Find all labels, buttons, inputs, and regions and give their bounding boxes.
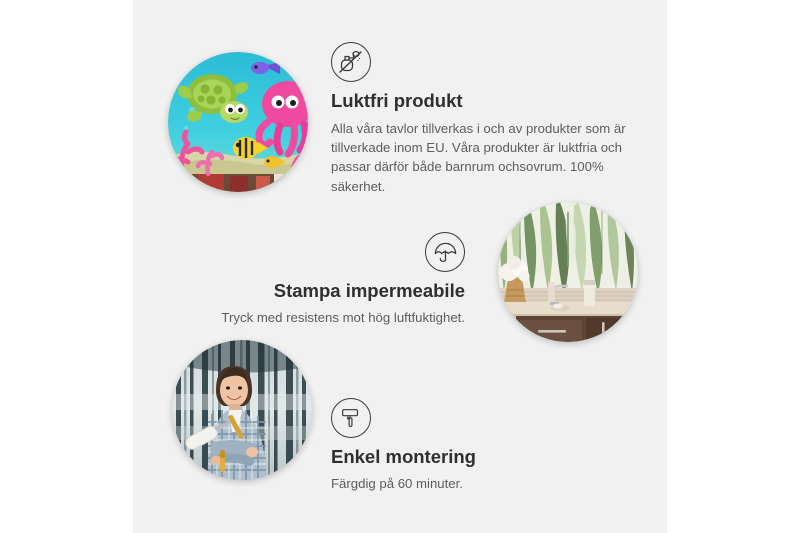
feature-body: Tryck med resistens mot hög luftfuktighe… (180, 308, 465, 327)
feature-title: Stampa impermeabile (180, 280, 465, 302)
feature-body: Alla våra tavlor tillverkas i och av pro… (331, 119, 631, 196)
feature-waterproof: Stampa impermeabile Tryck med resistens … (180, 232, 465, 327)
feature-body: Färgdig på 60 minuter. (331, 474, 591, 493)
umbrella-icon (425, 232, 465, 272)
underwater-scene-photo (168, 52, 308, 192)
feature-title: Enkel montering (331, 446, 591, 468)
feature-mounting: Enkel montering Färgdig på 60 minuter. (331, 398, 591, 493)
no-fragrance-icon (331, 42, 371, 82)
paint-roller-icon (331, 398, 371, 438)
promo-banner: Luktfri produkt Alla våra tavlor tillver… (0, 0, 800, 533)
decorator-woman-photo (172, 340, 312, 480)
feature-title: Luktfri produkt (331, 90, 631, 112)
feature-odourless: Luktfri produkt Alla våra tavlor tillver… (331, 42, 631, 196)
bathroom-interior-photo (498, 202, 638, 342)
